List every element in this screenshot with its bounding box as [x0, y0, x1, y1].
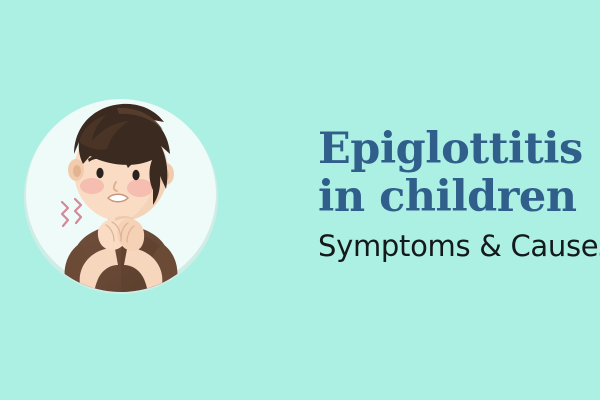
- page-title-line-2: in children: [318, 174, 600, 221]
- blush-right: [127, 179, 153, 197]
- page-title-line-1: Epiglottitis: [318, 126, 600, 173]
- ear-left-inner: [73, 165, 81, 177]
- blush-left: [80, 178, 104, 194]
- illustration-svg: [22, 94, 222, 306]
- text-block: Epiglottitis in children Symptoms & Caus…: [318, 126, 600, 262]
- eye-right: [132, 170, 139, 180]
- illustration-boy-sore-throat: [22, 94, 222, 306]
- mouth: [108, 194, 128, 202]
- eye-left: [96, 168, 103, 178]
- poster-canvas: Epiglottitis in children Symptoms & Caus…: [0, 0, 600, 400]
- page-subtitle: Symptoms & Causes: [318, 230, 600, 262]
